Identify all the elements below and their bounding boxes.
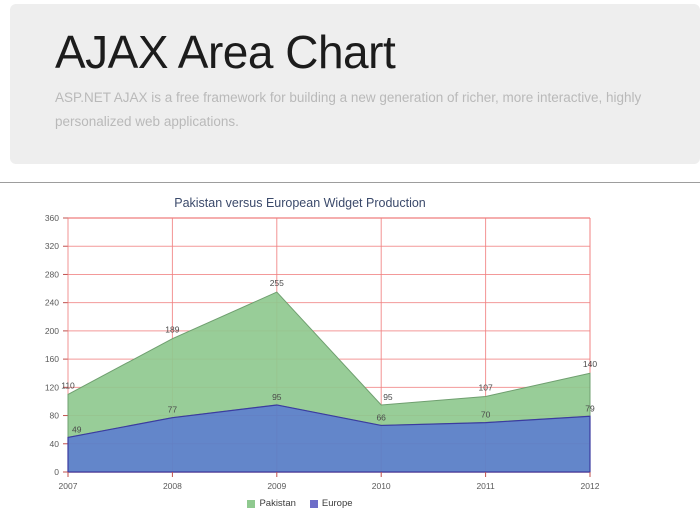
svg-text:240: 240 (45, 298, 59, 308)
svg-text:160: 160 (45, 354, 59, 364)
legend-item-europe[interactable]: Europe (310, 498, 353, 509)
header-divider (0, 182, 700, 183)
page-title: AJAX Area Chart (55, 28, 700, 76)
svg-text:189: 189 (165, 325, 179, 335)
chart-y-axis-labels: 04080120160200240280320360 (45, 213, 59, 477)
chart-x-axis-labels: 200720082009201020112012 (59, 481, 600, 491)
legend-label-pakistan: Pakistan (259, 498, 295, 509)
svg-text:0: 0 (54, 467, 59, 477)
svg-text:2009: 2009 (267, 481, 286, 491)
svg-text:66: 66 (376, 412, 386, 422)
legend-label-europe: Europe (322, 498, 353, 509)
svg-text:77: 77 (168, 405, 178, 415)
svg-text:320: 320 (45, 241, 59, 251)
chart-legend: Pakistan Europe (0, 498, 600, 509)
svg-text:360: 360 (45, 213, 59, 223)
svg-text:2012: 2012 (581, 481, 600, 491)
svg-text:200: 200 (45, 326, 59, 336)
svg-text:70: 70 (481, 410, 491, 420)
svg-text:280: 280 (45, 269, 59, 279)
page-root: AJAX Area Chart ASP.NET AJAX is a free f… (0, 0, 700, 531)
legend-item-pakistan[interactable]: Pakistan (247, 498, 295, 509)
svg-text:255: 255 (270, 278, 284, 288)
svg-text:49: 49 (72, 424, 82, 434)
svg-text:2011: 2011 (476, 481, 495, 491)
svg-text:80: 80 (50, 411, 60, 421)
svg-text:120: 120 (45, 382, 59, 392)
svg-text:2007: 2007 (59, 481, 78, 491)
chart-canvas[interactable]: 04080120160200240280320360 2007200820092… (0, 186, 700, 506)
svg-text:95: 95 (383, 392, 393, 402)
chart-series-areas (68, 292, 590, 472)
area-chart: Pakistan versus European Widget Producti… (0, 186, 700, 531)
page-subtitle: ASP.NET AJAX is a free framework for bui… (55, 86, 700, 133)
legend-swatch-pakistan (247, 500, 255, 508)
header-jumbotron: AJAX Area Chart ASP.NET AJAX is a free f… (10, 4, 700, 164)
svg-text:2008: 2008 (163, 481, 182, 491)
svg-text:110: 110 (61, 380, 75, 390)
chart-x-axis-ticks (68, 472, 590, 477)
svg-text:40: 40 (50, 439, 60, 449)
svg-text:79: 79 (585, 403, 595, 413)
svg-text:140: 140 (583, 359, 597, 369)
legend-swatch-europe (310, 500, 318, 508)
svg-text:95: 95 (272, 392, 282, 402)
svg-text:107: 107 (479, 383, 493, 393)
svg-text:2010: 2010 (372, 481, 391, 491)
